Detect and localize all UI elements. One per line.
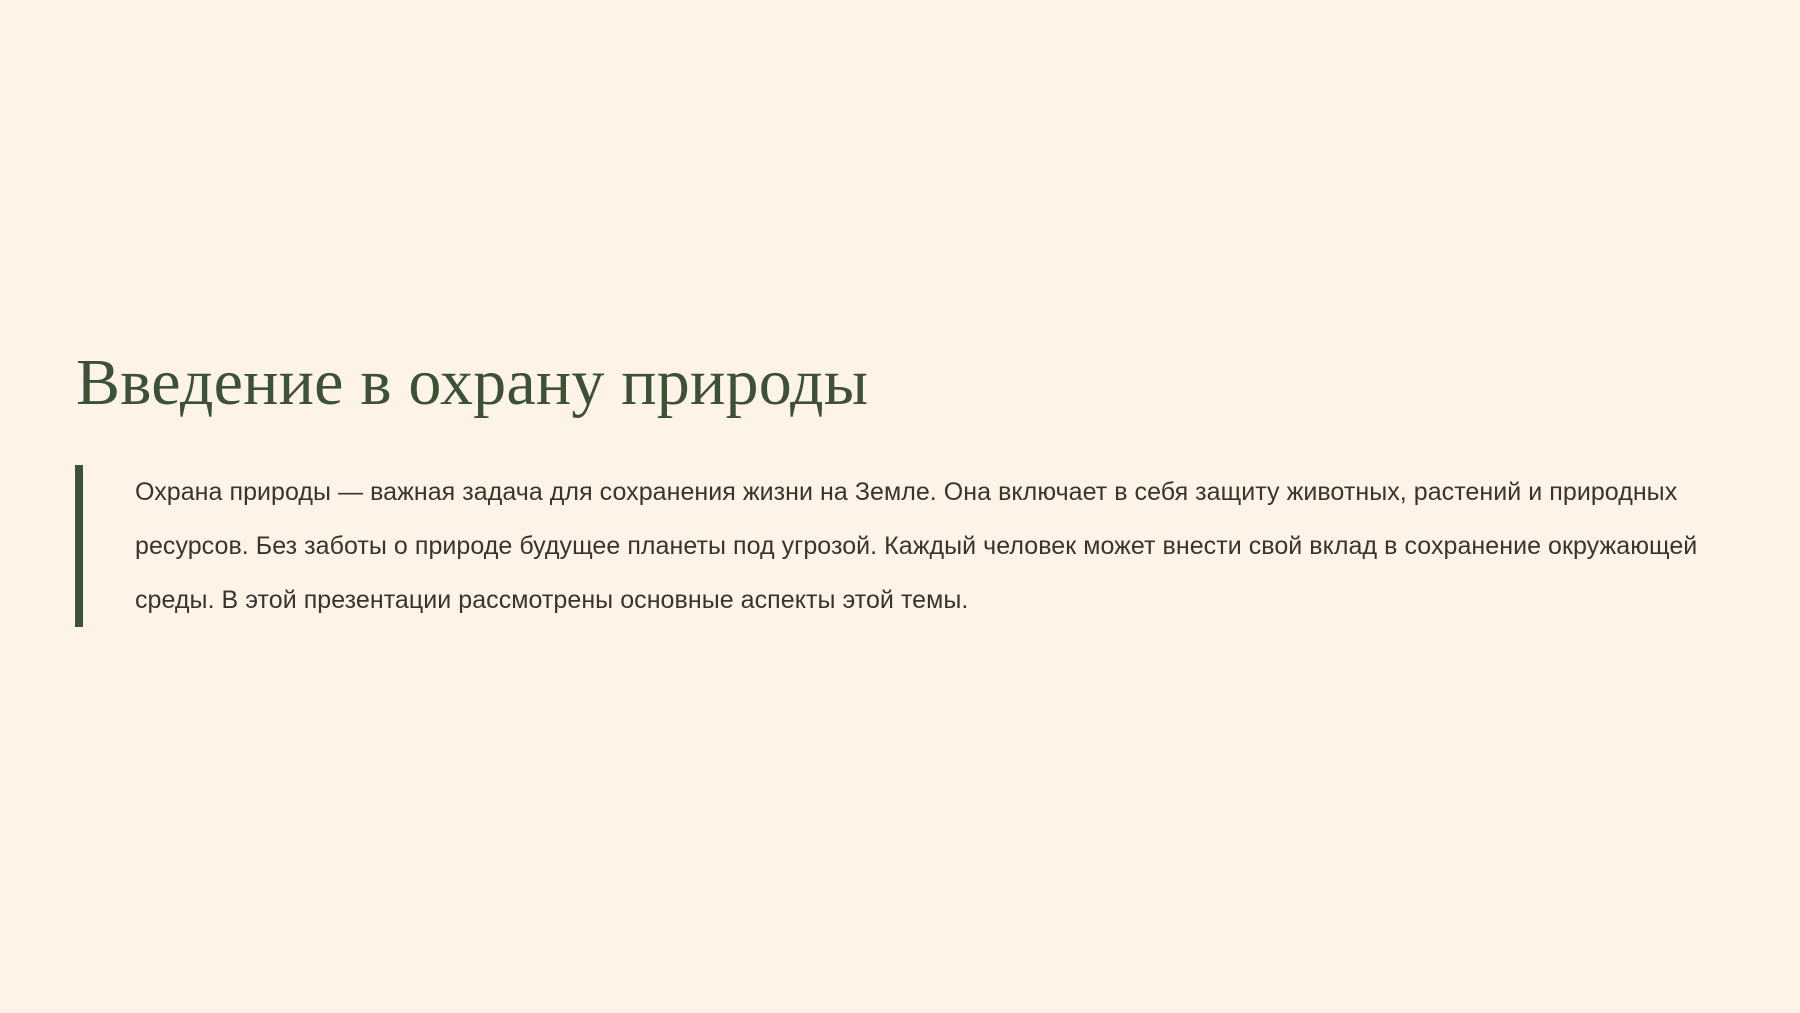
accent-bar: [75, 465, 83, 627]
body-callout: Охрана природы — важная задача для сохра…: [75, 465, 1725, 627]
slide-title: Введение в охрану природы: [76, 350, 868, 416]
presentation-slide: Введение в охрану природы Охрана природы…: [0, 0, 1800, 1013]
slide-body-text: Охрана природы — важная задача для сохра…: [83, 465, 1725, 627]
